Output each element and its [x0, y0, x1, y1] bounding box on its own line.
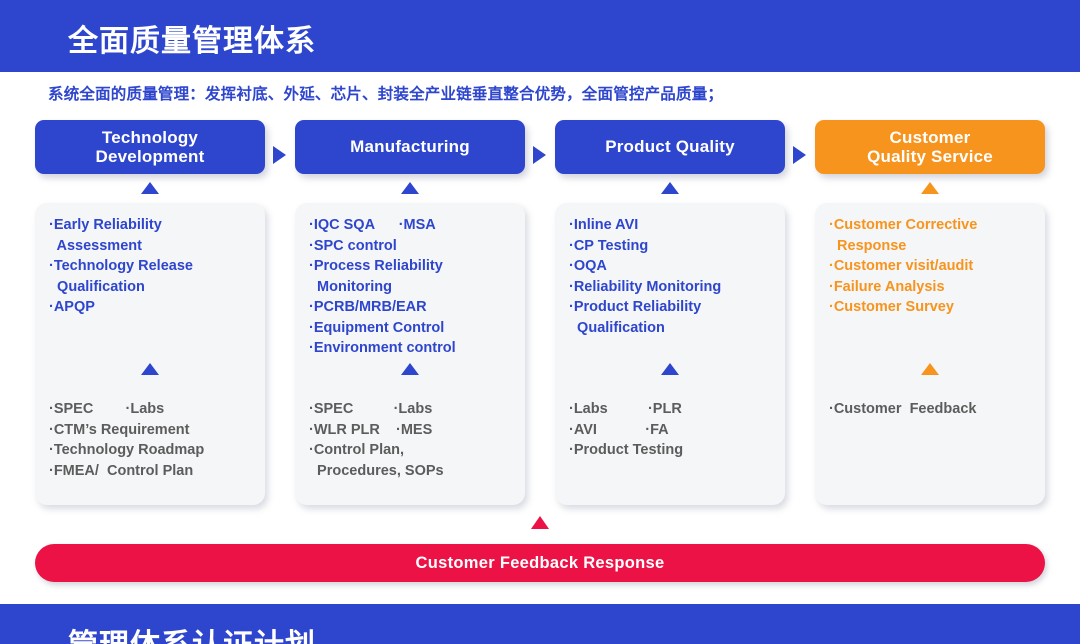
list-item: ·APQP	[49, 297, 259, 318]
triangle-up-icon-feedback	[531, 516, 549, 529]
customer-feedback-response-label: Customer Feedback Response	[416, 554, 665, 573]
list-item: ·WLR PLR ·MES	[309, 420, 519, 441]
list-item: ·Technology Roadmap	[49, 440, 259, 461]
list-item: ·AVI ·FA	[569, 420, 779, 441]
stage-pill-label: TechnologyDevelopment	[96, 128, 205, 166]
triangle-up-icon-stage-2	[401, 182, 419, 194]
bottom-item-list-2: ·SPEC ·Labs ·WLR PLR ·MES ·Control Plan,…	[309, 399, 519, 481]
stage-pill-label: Manufacturing	[350, 137, 470, 156]
chevron-right-icon-2	[533, 146, 546, 164]
list-item: Monitoring	[309, 277, 519, 298]
process-column-manufacturing: Manufacturing ·IQC SQA ·MSA ·SPC control…	[295, 120, 525, 174]
process-column-product-quality: Product Quality ·Inline AVI ·CP Testing …	[555, 120, 785, 174]
list-item: ·Reliability Monitoring	[569, 277, 779, 298]
detail-card-product-quality: ·Inline AVI ·CP Testing ·OQA ·Reliabilit…	[555, 203, 785, 505]
list-item: Qualification	[569, 318, 779, 339]
list-item: ·Environment control	[309, 338, 519, 359]
page-title: 全面质量管理体系	[68, 16, 316, 60]
triangle-up-icon-stage-3	[661, 182, 679, 194]
slide-header-band: 全面质量管理体系	[0, 0, 1080, 72]
list-item: ·OQA	[569, 256, 779, 277]
list-item: ·Process Reliability	[309, 256, 519, 277]
list-item: Assessment	[49, 236, 259, 257]
list-item: ·Labs ·PLR	[569, 399, 779, 420]
process-column-customer-quality-service: CustomerQuality Service ·Customer Correc…	[815, 120, 1045, 174]
customer-feedback-response-bar[interactable]: Customer Feedback Response	[35, 544, 1045, 582]
process-column-technology-development: TechnologyDevelopment ·Early Reliability…	[35, 120, 265, 174]
chevron-right-icon-1	[273, 146, 286, 164]
triangle-up-icon-stage-1	[141, 182, 159, 194]
list-item: ·Customer visit/audit	[829, 256, 1039, 277]
list-item: ·SPEC ·Labs	[49, 399, 259, 420]
triangle-up-icon-divider-2	[401, 363, 419, 375]
subtitle-text: 系统全面的质量管理：发挥衬底、外延、芯片、封装全产业链垂直整合优势，全面管控产品…	[48, 82, 723, 104]
detail-card-technology-development: ·Early Reliability Assessment ·Technolog…	[35, 203, 265, 505]
list-item: ·Customer Feedback	[829, 399, 1039, 420]
bottom-item-list-4: ·Customer Feedback	[829, 399, 1039, 420]
list-item: ·SPC control	[309, 236, 519, 257]
top-item-list-3: ·Inline AVI ·CP Testing ·OQA ·Reliabilit…	[569, 215, 779, 338]
list-item: ·FMEA/ Control Plan	[49, 461, 259, 482]
top-item-list-2: ·IQC SQA ·MSA ·SPC control ·Process Reli…	[309, 215, 519, 359]
list-item: ·Technology Release	[49, 256, 259, 277]
stage-pill-label: Product Quality	[605, 137, 735, 156]
next-slide-header-band: 管理体系认证计划	[0, 604, 1080, 644]
list-item: ·SPEC ·Labs	[309, 399, 519, 420]
list-item: ·Equipment Control	[309, 318, 519, 339]
triangle-up-icon-divider-4	[921, 363, 939, 375]
list-item: ·Early Reliability	[49, 215, 259, 236]
list-item: ·CTM’s Requirement	[49, 420, 259, 441]
list-item: Response	[829, 236, 1039, 257]
list-item: Qualification	[49, 277, 259, 298]
list-item: ·PCRB/MRB/EAR	[309, 297, 519, 318]
list-item: ·Product Testing	[569, 440, 779, 461]
stage-pill-product-quality[interactable]: Product Quality	[555, 120, 785, 174]
triangle-up-icon-stage-4	[921, 182, 939, 194]
stage-pill-manufacturing[interactable]: Manufacturing	[295, 120, 525, 174]
triangle-up-icon-divider-1	[141, 363, 159, 375]
detail-card-customer-quality-service: ·Customer Corrective Response ·Customer …	[815, 203, 1045, 505]
top-item-list-1: ·Early Reliability Assessment ·Technolog…	[49, 215, 259, 318]
chevron-right-icon-3	[793, 146, 806, 164]
list-item: ·Failure Analysis	[829, 277, 1039, 298]
process-columns: TechnologyDevelopment ·Early Reliability…	[0, 120, 1080, 510]
top-item-list-4: ·Customer Corrective Response ·Customer …	[829, 215, 1039, 318]
list-item: ·Control Plan,	[309, 440, 519, 461]
triangle-up-icon-divider-3	[661, 363, 679, 375]
stage-pill-label: CustomerQuality Service	[867, 128, 993, 166]
bottom-item-list-1: ·SPEC ·Labs ·CTM’s Requirement ·Technolo…	[49, 399, 259, 481]
list-item: ·CP Testing	[569, 236, 779, 257]
stage-pill-technology-development[interactable]: TechnologyDevelopment	[35, 120, 265, 174]
list-item: ·Customer Survey	[829, 297, 1039, 318]
detail-card-manufacturing: ·IQC SQA ·MSA ·SPC control ·Process Reli…	[295, 203, 525, 505]
list-item: ·Customer Corrective	[829, 215, 1039, 236]
list-item: ·IQC SQA ·MSA	[309, 215, 519, 236]
stage-pill-customer-quality-service[interactable]: CustomerQuality Service	[815, 120, 1045, 174]
list-item: ·Product Reliability	[569, 297, 779, 318]
list-item: Procedures, SOPs	[309, 461, 519, 482]
next-slide-title: 管理体系认证计划	[68, 620, 316, 644]
bottom-item-list-3: ·Labs ·PLR ·AVI ·FA ·Product Testing	[569, 399, 779, 461]
list-item: ·Inline AVI	[569, 215, 779, 236]
